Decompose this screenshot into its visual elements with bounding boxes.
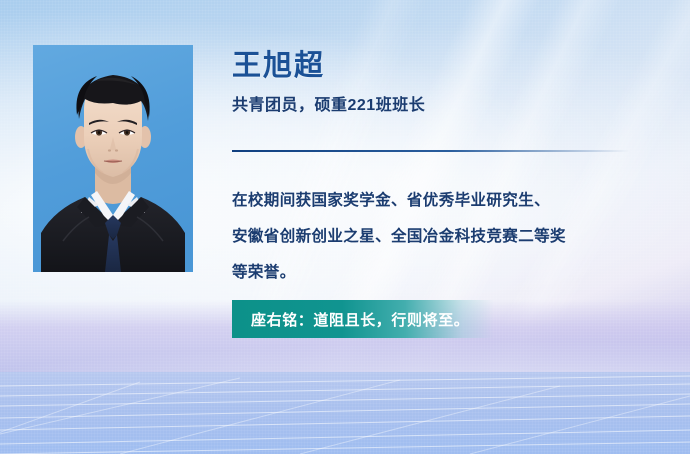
bio-line: 安徽省创新创业之星、全国冶金科技竞赛二等奖 xyxy=(232,219,652,255)
bio-line: 等荣誉。 xyxy=(232,255,652,291)
profile-card: 王旭超 共青团员，硕重221班班长 在校期间获国家奖学金、省优秀毕业研究生、 安… xyxy=(0,0,690,454)
profile-photo xyxy=(33,45,193,272)
profile-subtitle: 共青团员，硕重221班班长 xyxy=(232,96,652,117)
profile-bio: 在校期间获国家奖学金、省优秀毕业研究生、 安徽省创新创业之星、全国冶金科技竞赛二… xyxy=(232,183,652,291)
motto-banner: 座右铭：道阻且长，行则将至。 xyxy=(232,300,494,338)
profile-info: 王旭超 共青团员，硕重221班班长 xyxy=(232,48,652,117)
section-divider xyxy=(232,150,630,152)
bio-line: 在校期间获国家奖学金、省优秀毕业研究生、 xyxy=(232,183,652,219)
motto-text: 座右铭：道阻且长，行则将至。 xyxy=(232,309,469,330)
profile-name: 王旭超 xyxy=(232,48,652,84)
